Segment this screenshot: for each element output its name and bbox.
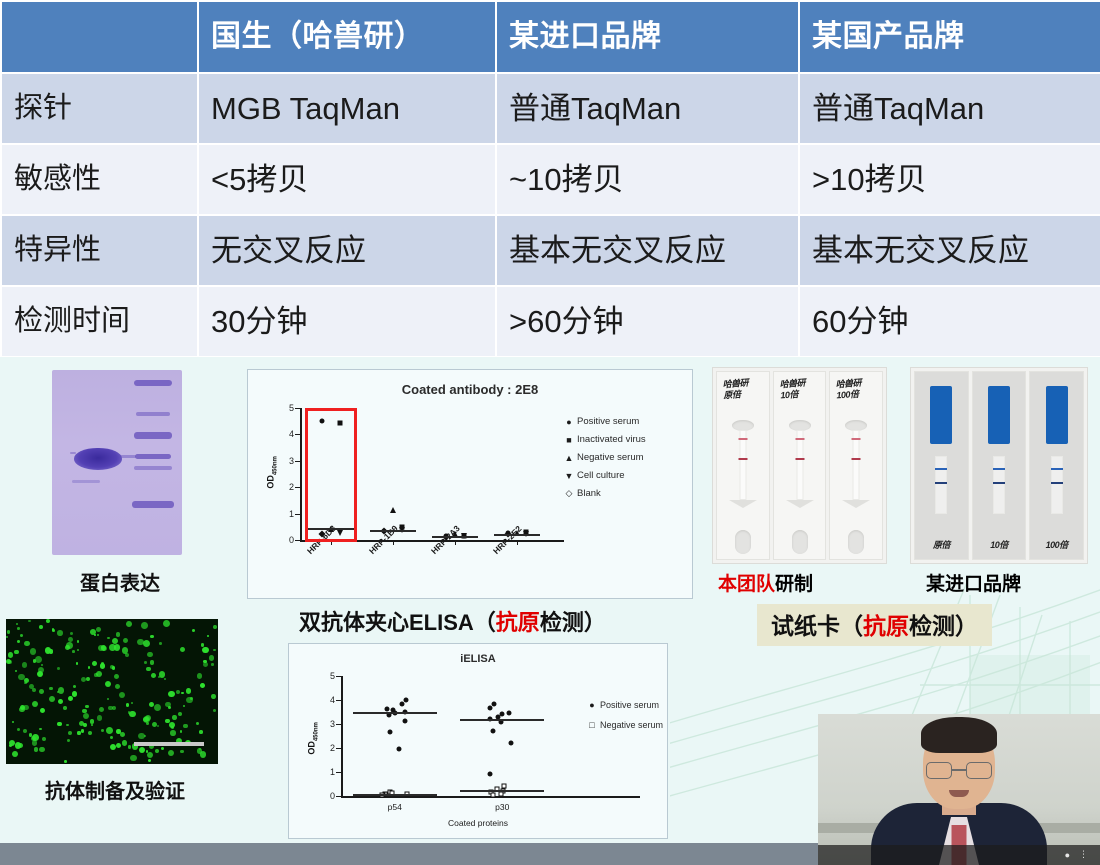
fluorescent-cell: [115, 684, 120, 689]
test-line: [935, 468, 947, 470]
fluorescent-cell: [6, 636, 8, 638]
cell-specificity-guosheng: 无交叉反应: [198, 215, 496, 286]
fluorescent-cell: [41, 664, 43, 666]
y-tick-mark: [336, 700, 341, 701]
test-line: [852, 458, 861, 460]
y-tick-mark: [336, 772, 341, 773]
fluorescent-cell: [149, 702, 154, 707]
test-line: [738, 438, 747, 440]
fluorescent-cell: [122, 740, 127, 745]
fluorescent-cell: [144, 661, 147, 664]
data-point: [509, 741, 514, 746]
strip-handwriting: 哈兽研原倍: [722, 377, 765, 402]
speaker-glasses: [926, 762, 992, 779]
fluorescent-cell: [35, 656, 42, 663]
fluorescent-cell: [81, 729, 85, 733]
test-strip: 100倍: [1029, 371, 1084, 560]
fluorescent-cell: [109, 644, 115, 650]
highlight-box: [305, 408, 357, 542]
fluorescent-cell: [172, 715, 176, 719]
fluorescent-cell: [67, 739, 70, 742]
legend-item: ■Inactivated virus: [561, 434, 646, 445]
fluorescent-cell: [143, 640, 150, 647]
test-strips-own-photo: 哈兽研原倍哈兽研10倍哈兽研100倍: [712, 367, 887, 564]
cell-specificity-imported: 基本无交叉反应: [496, 215, 799, 286]
fluorescent-cell: [15, 670, 17, 672]
fluorescent-cell: [164, 678, 166, 680]
fluorescence-image: [6, 619, 218, 764]
fluorescent-cell: [32, 740, 37, 745]
fluorescent-cell: [33, 659, 37, 663]
fluorescent-cell: [180, 647, 185, 652]
fluorescent-cell: [24, 678, 29, 683]
fluorescent-cell: [209, 655, 215, 661]
cell-probe-guosheng: MGB TaqMan: [198, 73, 496, 144]
test-line: [1051, 468, 1063, 470]
fluorescent-cell: [77, 649, 79, 651]
y-tick-mark: [295, 434, 300, 435]
table-row: 探针 MGB TaqMan 普通TaqMan 普通TaqMan: [1, 73, 1100, 144]
x-tick-mark: [517, 540, 518, 545]
fluorescent-cell: [72, 650, 75, 653]
video-control-bar[interactable]: [818, 845, 1100, 865]
mic-icon[interactable]: ●: [1065, 850, 1070, 860]
fluorescent-cell: [107, 698, 109, 700]
buffer-well: [735, 530, 751, 554]
fluorescent-cell: [165, 719, 170, 724]
caption-sandwich-highlight: 抗原: [496, 610, 540, 635]
test-strip: 10倍: [972, 371, 1027, 560]
fluorescent-cell: [116, 632, 121, 637]
bottom-bar: [0, 843, 818, 865]
fluorescent-cell: [46, 619, 50, 623]
fluorescent-cell: [30, 648, 36, 654]
fluorescent-cell: [91, 724, 93, 726]
fluorescent-cell: [32, 734, 39, 741]
fluorescent-cell: [97, 715, 102, 720]
legend-label: Positive serum: [577, 416, 639, 427]
x-tick-label: p30: [495, 802, 509, 812]
fluorescent-cell: [146, 667, 151, 672]
fluorescent-cell: [22, 662, 27, 667]
mean-line: [494, 534, 540, 536]
fluorescent-cell: [17, 627, 20, 630]
data-point: [390, 507, 396, 513]
fluorescent-cell: [8, 652, 13, 657]
legend-label: Cell culture: [577, 470, 625, 481]
legend-ielisa: ●Positive serum□Negative serum: [584, 700, 663, 740]
test-strip: 原倍: [914, 371, 969, 560]
y-tick-mark: [336, 676, 341, 677]
test-line: [1051, 482, 1063, 484]
fluorescent-cell: [180, 730, 182, 732]
legend-label: Negative serum: [577, 452, 644, 463]
legend-item: ▼Cell culture: [561, 470, 646, 481]
fluorescent-cell: [207, 635, 209, 637]
fluorescent-cell: [130, 755, 137, 762]
fluorescent-cell: [66, 642, 73, 649]
fluorescent-cell: [211, 663, 213, 665]
fluorescent-cell: [196, 722, 200, 726]
fluorescent-cell: [70, 632, 73, 635]
test-line: [795, 438, 804, 440]
fluorescent-cell: [139, 747, 145, 753]
buffer-well: [792, 530, 808, 554]
fluorescent-cell: [154, 704, 161, 711]
fluorescent-cell: [32, 688, 36, 692]
row-label-time: 检测时间: [1, 286, 198, 357]
table-row: 检测时间 30分钟 >60分钟 60分钟: [1, 286, 1100, 357]
x-tick-label: p54: [388, 802, 402, 812]
y-axis-label-sandwich: OD450nm: [266, 442, 279, 502]
fluorescent-cell: [138, 733, 144, 739]
fluorescent-cell: [49, 649, 54, 654]
result-window: [796, 430, 803, 500]
fluorescent-cell: [57, 667, 60, 670]
strip-handwriting: 原倍: [933, 538, 950, 551]
fluorescent-cell: [168, 691, 175, 698]
fluorescent-cell: [99, 707, 104, 712]
fluorescent-cell: [128, 745, 132, 749]
fluorescent-cell: [58, 699, 63, 704]
caption-own-highlight: 本团队: [718, 574, 775, 595]
fluorescent-cell: [52, 629, 55, 632]
fluorescent-cell: [186, 688, 191, 693]
fluorescent-cell: [49, 696, 55, 702]
fluorescent-cell: [66, 724, 69, 727]
row-label-specificity: 特异性: [1, 215, 198, 286]
fluorescent-cell: [90, 629, 96, 635]
fluorescent-cell: [92, 661, 97, 666]
fluorescent-cell: [37, 671, 43, 677]
fluorescent-cell: [148, 759, 151, 762]
data-point: [491, 792, 496, 797]
fluorescent-cell: [42, 737, 46, 741]
fluorescent-cell: [40, 708, 45, 713]
fluorescent-cell: [77, 640, 79, 642]
fluorescent-cell: [120, 732, 125, 737]
fluorescent-cell: [83, 713, 89, 719]
result-window: [739, 430, 746, 500]
fluorescent-cell: [155, 749, 159, 753]
scale-bar: [134, 742, 204, 746]
fluorescent-cell: [28, 620, 31, 623]
fluorescent-cell: [68, 637, 73, 642]
fluorescent-cell: [39, 689, 44, 694]
legend-item: ●Positive serum: [584, 700, 663, 710]
fluorescent-cell: [39, 728, 42, 731]
caption-sandwich-part2: 检测）: [540, 610, 606, 635]
fluorescent-cell: [57, 630, 63, 636]
fluorescent-cell: [24, 641, 30, 647]
fluorescent-cell: [112, 638, 118, 644]
strip-blue-label: [1046, 386, 1068, 444]
strip-handwriting: 哈兽研10倍: [779, 377, 822, 402]
mean-line: [353, 712, 437, 714]
fluorescent-cell: [76, 662, 79, 665]
fluorescent-cell: [211, 694, 216, 699]
caption-own-plain: 研制: [775, 574, 813, 595]
fluorescent-cell: [82, 709, 87, 714]
y-axis: [341, 676, 343, 796]
strip-handwriting: 100倍: [1046, 538, 1068, 551]
test-strip: 哈兽研100倍: [829, 371, 883, 560]
cell-sensitivity-imported: ~10拷贝: [496, 144, 799, 215]
strip-blue-label: [988, 386, 1010, 444]
caption-own-team: 本团队研制: [718, 569, 813, 596]
fluorescent-cell: [57, 722, 61, 726]
fluorescent-cell: [23, 729, 27, 733]
fluorescent-cell: [119, 692, 125, 698]
legend-marker: ●: [584, 700, 600, 710]
legend-marker: ▲: [561, 453, 577, 463]
fluorescent-cell: [94, 673, 98, 677]
cell-probe-domestic: 普通TaqMan: [799, 73, 1100, 144]
fluorescent-cell: [97, 634, 99, 636]
strip-handwriting: 10倍: [990, 538, 1008, 551]
data-point: [487, 772, 492, 777]
buffer-well: [848, 530, 864, 554]
fluorescent-cell: [151, 673, 156, 678]
strip-arrow: [842, 500, 870, 508]
fluorescent-cell: [15, 742, 21, 748]
fluorescent-cell: [197, 673, 203, 679]
more-options-icon[interactable]: ⋮: [1079, 849, 1088, 860]
legend-label: Inactivated virus: [577, 434, 646, 445]
fluorescent-cell: [125, 653, 129, 657]
chart-title-ielisa: iELISA: [289, 653, 667, 665]
legend-item: ●Positive serum: [561, 416, 646, 427]
fluorescent-cell: [110, 744, 117, 751]
fluorescent-cell: [192, 629, 195, 632]
y-tick-mark: [336, 796, 341, 797]
strip-arrow: [786, 500, 814, 508]
table-row: 敏感性 <5拷贝 ~10拷贝 >10拷贝: [1, 144, 1100, 215]
y-tick-mark: [336, 748, 341, 749]
chart-sandwich-elisa: Coated antibody : 2E8 012345HRP-6D8HRP-1…: [247, 369, 693, 599]
fluorescent-cell: [68, 731, 72, 735]
test-strips-imported-photo: 原倍10倍100倍: [910, 367, 1088, 564]
fluorescent-cell: [203, 660, 206, 663]
cell-sensitivity-guosheng: <5拷贝: [198, 144, 496, 215]
cell-time-imported: >60分钟: [496, 286, 799, 357]
fluorescent-cell: [107, 637, 110, 640]
caption-antibody-preparation: 抗体制备及验证: [0, 775, 230, 804]
cell-probe-imported: 普通TaqMan: [496, 73, 799, 144]
fluorescent-cell: [159, 642, 162, 645]
fluorescent-cell: [12, 721, 15, 724]
result-window: [935, 456, 947, 514]
fluorescent-cell: [17, 640, 20, 643]
legend-item: □Negative serum: [584, 720, 663, 730]
fluorescent-cell: [150, 660, 155, 665]
data-point: [403, 697, 408, 702]
x-axis-title-ielisa: Coated proteins: [289, 818, 667, 828]
fluorescent-cell: [200, 751, 207, 758]
y-tick-mark: [295, 461, 300, 462]
fluorescent-cell: [32, 701, 38, 707]
legend-label: Negative serum: [600, 720, 663, 730]
legend-item: ◇Blank: [561, 488, 646, 499]
fluorescent-cell: [178, 712, 182, 716]
y-tick-mark: [336, 724, 341, 725]
fluorescent-cell: [129, 711, 136, 718]
fluorescent-cell: [176, 690, 180, 694]
fluorescent-cell: [90, 719, 95, 724]
fluorescent-cell: [200, 683, 205, 688]
mean-line: [370, 530, 416, 532]
legend-label: Positive serum: [600, 700, 659, 710]
chart-title-sandwich: Coated antibody : 2E8: [248, 382, 692, 397]
test-line: [993, 468, 1005, 470]
legend-label: Blank: [577, 488, 601, 499]
test-strip: 哈兽研10倍: [773, 371, 827, 560]
data-point: [491, 729, 496, 734]
legend-marker: □: [584, 720, 600, 730]
strip-arrow: [729, 500, 757, 508]
fluorescent-cell: [101, 729, 104, 732]
row-label-probe: 探针: [1, 73, 198, 144]
table-header-domestic: 某国产品牌: [799, 1, 1100, 73]
table-header-imported: 某进口品牌: [496, 1, 799, 73]
fluorescent-cell: [163, 620, 170, 627]
fluorescent-cell: [73, 685, 76, 688]
cell-specificity-domestic: 基本无交叉反应: [799, 215, 1100, 286]
caption-strip-part2: 检测）: [909, 613, 978, 639]
fluorescent-cell: [131, 702, 134, 705]
y-axis-label-ielisa: OD450nm: [307, 710, 320, 766]
fluorescent-cell: [116, 743, 121, 748]
mean-line: [460, 790, 544, 792]
fluorescent-cell: [146, 722, 149, 725]
fluorescent-cell: [183, 705, 186, 708]
x-tick-mark: [455, 540, 456, 545]
table-header-blank: [1, 1, 198, 73]
fluorescent-cell: [147, 752, 153, 758]
speaker-video-thumbnail[interactable]: ● ⋮: [818, 714, 1100, 865]
fluorescent-cell: [39, 625, 43, 629]
caption-protein-expression: 蛋白表达: [0, 567, 240, 596]
fluorescent-cell: [213, 649, 215, 651]
test-line: [993, 482, 1005, 484]
fluorescent-cell: [72, 691, 77, 696]
chart-ielisa: iELISA 012345p54p30 OD450nm Coated prote…: [288, 643, 668, 839]
data-point: [384, 707, 389, 712]
caption-sandwich-elisa: 双抗体夹心ELISA（抗原检测）: [299, 605, 606, 637]
fluorescent-cell: [126, 621, 132, 627]
y-axis: [300, 408, 302, 540]
data-point: [396, 747, 401, 752]
speaker-hair: [921, 717, 997, 753]
data-point: [400, 702, 405, 707]
fluorescent-cell: [150, 635, 154, 639]
fluorescent-cell: [168, 706, 172, 710]
fluorescent-cell: [110, 736, 114, 740]
fluorescent-cell: [14, 650, 18, 654]
plot-area-sandwich: 012345HRP-6D8HRP-1B9HRP-2A3HRP-2E2: [300, 408, 548, 540]
fluorescent-cell: [152, 722, 157, 727]
fluorescent-cell: [20, 705, 25, 710]
fluorescent-cell: [49, 687, 53, 691]
legend-marker: ■: [561, 435, 577, 445]
plot-area-ielisa: 012345p54p30: [341, 676, 556, 796]
fluorescent-cell: [190, 697, 193, 700]
fluorescent-cell: [85, 705, 88, 708]
fluorescent-cell: [123, 638, 128, 643]
fluorescent-cell: [64, 760, 67, 763]
caption-strip-card: 试纸卡（抗原检测）: [757, 604, 992, 646]
fluorescent-cell: [8, 660, 12, 664]
row-label-sensitivity: 敏感性: [1, 144, 198, 215]
test-line: [935, 482, 947, 484]
fluorescent-cell: [199, 730, 203, 734]
result-window: [993, 456, 1005, 514]
fluorescent-cell: [7, 630, 11, 634]
fluorescent-cell: [202, 647, 208, 653]
test-line: [738, 458, 747, 460]
fluorescent-cell: [147, 652, 152, 657]
legend-sandwich: ●Positive serum■Inactivated virus▲Negati…: [561, 416, 646, 506]
fluorescent-cell: [181, 692, 184, 695]
fluorescent-cell: [183, 724, 188, 729]
mean-line: [353, 794, 437, 796]
fluorescent-cell: [137, 639, 144, 646]
fluorescent-cell: [12, 751, 18, 757]
fluorescent-cell: [170, 730, 175, 735]
legend-item: ▲Negative serum: [561, 452, 646, 463]
fluorescent-cell: [168, 750, 174, 756]
legend-marker: ●: [561, 417, 577, 427]
fluorescent-cell: [81, 677, 86, 682]
result-window: [1051, 456, 1063, 514]
y-tick-mark: [295, 540, 300, 541]
test-line: [852, 438, 861, 440]
data-point: [492, 701, 497, 706]
mean-line: [460, 719, 544, 721]
cell-time-domestic: 60分钟: [799, 286, 1100, 357]
fluorescent-cell: [68, 696, 73, 701]
caption-strip-highlight: 抗原: [863, 613, 909, 639]
fluorescent-cell: [201, 643, 204, 646]
data-point: [487, 706, 492, 711]
y-tick-mark: [295, 487, 300, 488]
fluorescent-cell: [100, 663, 105, 668]
table-header-row: 国生（哈兽研） 某进口品牌 某国产品牌: [1, 1, 1100, 73]
comparison-table: 国生（哈兽研） 某进口品牌 某国产品牌 探针 MGB TaqMan 普通TaqM…: [0, 0, 1100, 358]
data-point: [402, 719, 407, 724]
fluorescent-cell: [88, 666, 90, 668]
y-tick-mark: [295, 514, 300, 515]
caption-strip-part1: 试纸卡（: [771, 613, 863, 639]
data-point: [388, 730, 393, 735]
fluorescent-cell: [96, 627, 101, 632]
y-tick-mark: [295, 408, 300, 409]
data-point: [506, 711, 511, 716]
strip-blue-label: [930, 386, 952, 444]
fluorescent-cell: [180, 750, 183, 753]
fluorescent-cell: [112, 666, 115, 669]
protein-gel-image: [52, 370, 182, 555]
fluorescent-cell: [213, 625, 217, 629]
table-row: 特异性 无交叉反应 基本无交叉反应 基本无交叉反应: [1, 215, 1100, 286]
slide-stage: 国生（哈兽研） 某进口品牌 某国产品牌 探针 MGB TaqMan 普通TaqM…: [0, 0, 1100, 865]
x-tick-mark: [393, 540, 394, 545]
caption-sandwich-part1: 双抗体夹心ELISA（: [299, 610, 496, 635]
table-header-guosheng: 国生（哈兽研）: [198, 1, 496, 73]
fluorescent-cell: [114, 674, 119, 679]
mean-line: [432, 536, 478, 538]
strip-handwriting: 哈兽研100倍: [836, 377, 879, 402]
